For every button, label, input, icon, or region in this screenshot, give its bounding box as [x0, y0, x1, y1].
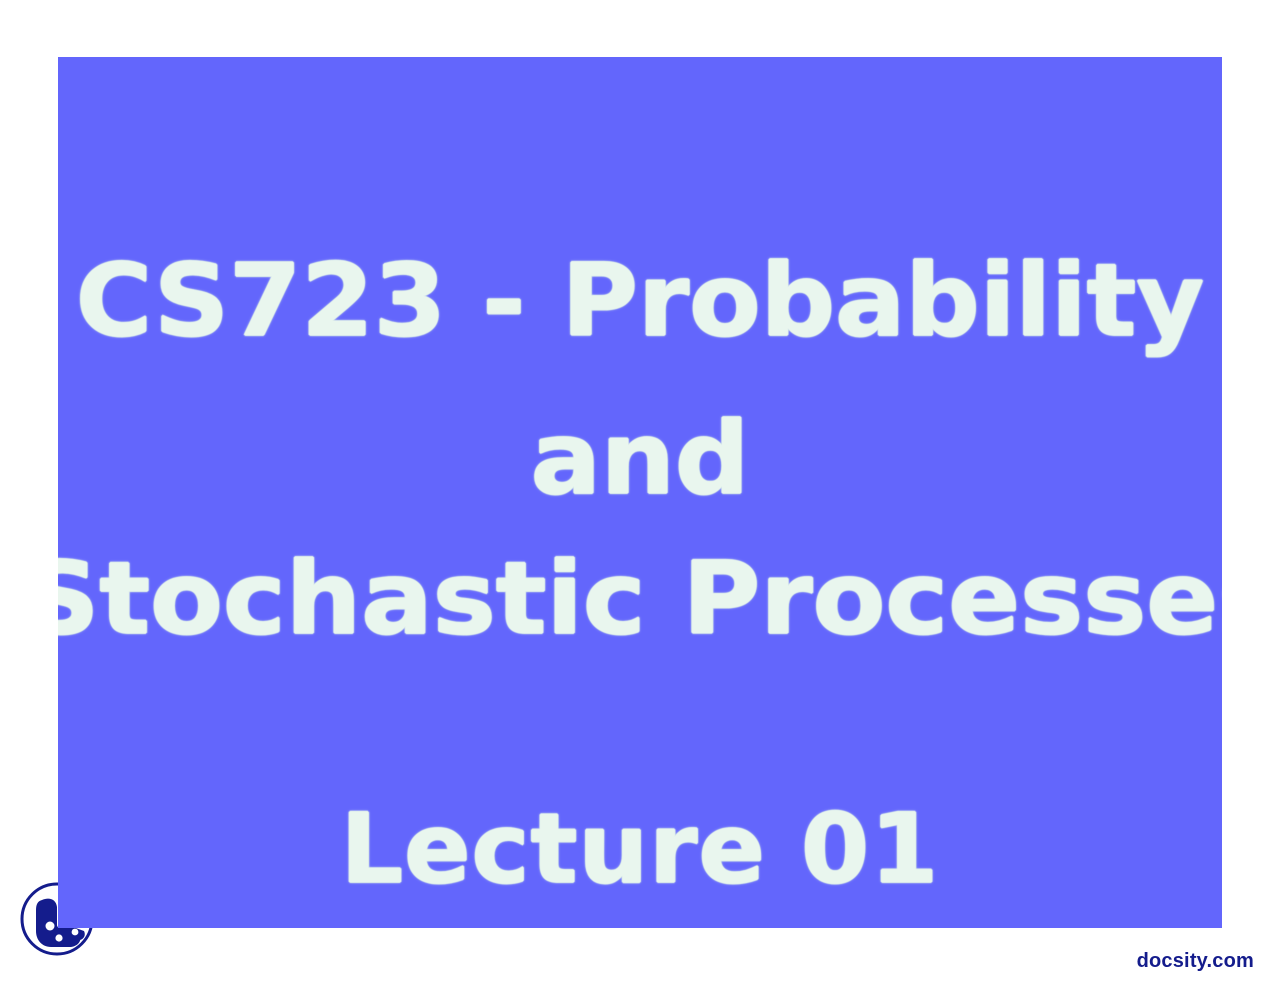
document-page: CS723 - Probability and Stochastic Proce… [0, 0, 1280, 989]
slide-title-line-conjunction: and [58, 409, 1222, 509]
slide-title-line-course: CS723 - Probability [58, 251, 1222, 351]
slide-title-line-topic: Stochastic Processes [58, 549, 1222, 649]
presentation-slide: CS723 - Probability and Stochastic Proce… [58, 57, 1222, 928]
docsity-url-label: docsity.com [1137, 950, 1254, 973]
slide-subtitle-lecture-number: Lecture 01 [58, 801, 1222, 897]
